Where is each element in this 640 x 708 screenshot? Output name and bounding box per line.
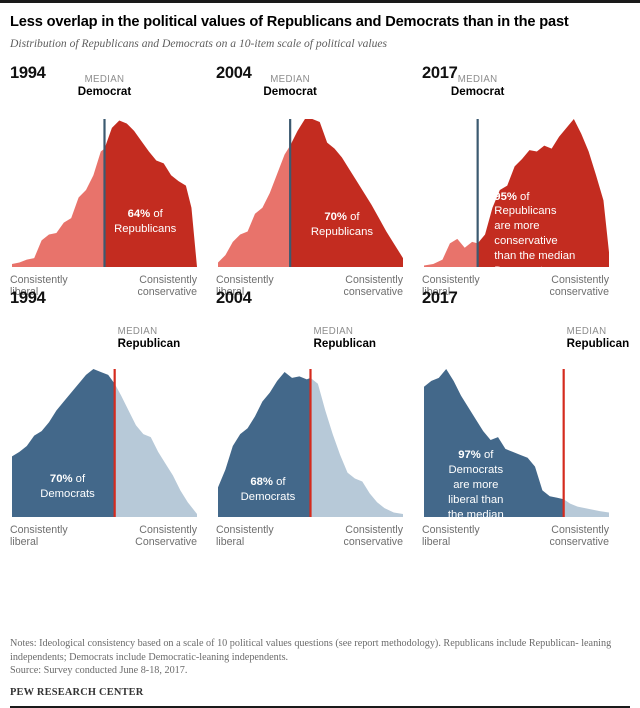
axis-right-line: Consistently [424,274,609,287]
area-right-dem-2017 [564,499,609,517]
callout-rep-1994: 64% ofRepublicans [114,207,176,237]
axis-right-line: conservative [424,536,609,549]
area-right-rep-1994 [105,120,198,267]
area-right-dem-2004 [311,377,404,516]
distribution-plot-dem-2017: 97% ofDemocratsare moreliberal thanthe m… [424,369,609,517]
median-party-dem-2004: Republican [314,337,377,350]
page-subtitle: Distribution of Republicans and Democrat… [10,32,630,50]
area-left-rep-2017 [424,238,478,266]
callout-percent-dem-2017: 97% [458,449,481,461]
panel-year-rep-2004: 2004 [216,64,252,83]
callout-line-rep-2017: conservative [494,234,575,249]
page-title: Less overlap in the political values of … [10,3,630,32]
callout-percent-dem-1994: 70% [50,473,73,485]
axis-right-line: Conservative [12,536,197,549]
callout-percent-rep-2004: 70% [324,211,347,223]
axis-right-line: Consistently [12,524,197,537]
callout-line-dem-1994: Democrats [40,487,95,502]
chart-panel-rep-2004: 200470% ofRepublicansMEDIANDemocratConsi… [216,64,422,284]
callout-dem-1994: 70% ofDemocrats [40,472,95,502]
distribution-plot-dem-2004: 68% ofDemocratsMEDIANRepublican [218,369,403,517]
chart-panel-rep-2017: 201795% ofRepublicansare moreconservativ… [422,64,628,284]
callout-line-dem-2017: the median [448,508,505,523]
notes-line-1: Notes: Ideological consistency based on … [10,638,579,649]
axis-right-line: Consistently [218,274,403,287]
area-left-rep-2004 [218,145,290,266]
median-kicker-rep-2017: MEDIAN [451,75,504,86]
median-party-dem-1994: Republican [118,337,181,350]
callout-line-rep-2004: Republicans [311,225,373,240]
distribution-plot-rep-2017: 95% ofRepublicansare moreconservativetha… [424,119,609,267]
distribution-plot-rep-2004: 70% ofRepublicansMEDIANDemocrat [218,119,403,267]
callout-percent-rep-1994: 64% [128,208,151,220]
median-kicker-rep-2004: MEDIAN [263,75,316,86]
median-label-rep-2004: MEDIANDemocrat [263,75,316,99]
axis-right-line: Consistently [424,524,609,537]
median-party-rep-2004: Democrat [263,85,316,98]
chart-panel-rep-1994: 199464% ofRepublicansMEDIANDemocratConsi… [10,64,216,284]
panel-grid: 199464% ofRepublicansMEDIANDemocratConsi… [10,64,630,544]
panel-year-rep-1994: 1994 [10,64,46,83]
median-label-rep-1994: MEDIANDemocrat [78,75,131,99]
distribution-plot-rep-1994: 64% ofRepublicansMEDIANDemocrat [12,119,197,267]
chart-panel-dem-1994: 199470% ofDemocratsMEDIANRepublicanConsi… [10,289,216,509]
area-right-dem-1994 [115,383,197,516]
area-right-rep-2004 [290,119,403,267]
panel-year-dem-2004: 2004 [216,289,252,308]
distribution-plot-dem-1994: 70% ofDemocratsMEDIANRepublican [12,369,197,517]
infographic-page: Less overlap in the political values of … [0,0,640,708]
median-party-rep-1994: Democrat [78,85,131,98]
median-kicker-dem-2017: MEDIAN [567,327,630,338]
callout-rep-2017: 95% ofRepublicansare moreconservativetha… [494,190,575,279]
callout-line-dem-2017: Democrats [448,463,505,478]
footer-notes: Notes: Ideological consistency based on … [10,637,630,678]
axis-label-right-dem-2017: Consistentlyconservative [424,524,609,550]
median-label-dem-1994: MEDIANRepublican [118,327,181,351]
median-label-rep-2017: MEDIANDemocrat [451,75,504,99]
footer: Notes: Ideological consistency based on … [10,637,630,708]
callout-line-dem-2004: Democrats [241,490,296,505]
pew-research-center-label: PEW RESEARCH CENTER [10,687,630,698]
panel-year-dem-1994: 1994 [10,289,46,308]
callout-rep-2004: 70% ofRepublicans [311,210,373,240]
median-label-dem-2004: MEDIANRepublican [314,327,377,351]
callout-line-dem-2017: liberal than [448,493,505,508]
callout-line-rep-2017: than the median [494,249,575,264]
panel-year-dem-2017: 2017 [422,289,458,308]
axis-label-right-dem-2004: Consistentlyconservative [218,524,403,550]
median-kicker-dem-1994: MEDIAN [118,327,181,338]
median-label-dem-2017: MEDIANRepublican [567,327,630,351]
median-kicker-rep-1994: MEDIAN [78,75,131,86]
callout-percent-dem-2004: 68% [250,476,273,488]
area-left-rep-1994 [12,148,105,266]
callout-line-dem-2017: are more [448,478,505,493]
callout-line-rep-2017: are more [494,219,575,234]
axis-right-line: conservative [218,536,403,549]
axis-right-line: Consistently [218,524,403,537]
chart-panel-dem-2017: 201797% ofDemocratsare moreliberal thant… [422,289,628,509]
median-kicker-dem-2004: MEDIAN [314,327,377,338]
median-party-rep-2017: Democrat [451,85,504,98]
axis-right-line: Consistently [12,274,197,287]
axis-label-right-dem-1994: ConsistentlyConservative [12,524,197,550]
median-party-dem-2017: Republican [567,337,630,350]
callout-dem-2004: 68% ofDemocrats [241,475,296,505]
callout-line-rep-1994: Republicans [114,222,176,237]
source-line: Source: Survey conducted June 8-18, 2017… [10,664,630,678]
chart-panel-dem-2004: 200468% ofDemocratsMEDIANRepublicanConsi… [216,289,422,509]
callout-line-rep-2017: Republicans [494,204,575,219]
callout-percent-rep-2017: 95% [494,191,517,203]
